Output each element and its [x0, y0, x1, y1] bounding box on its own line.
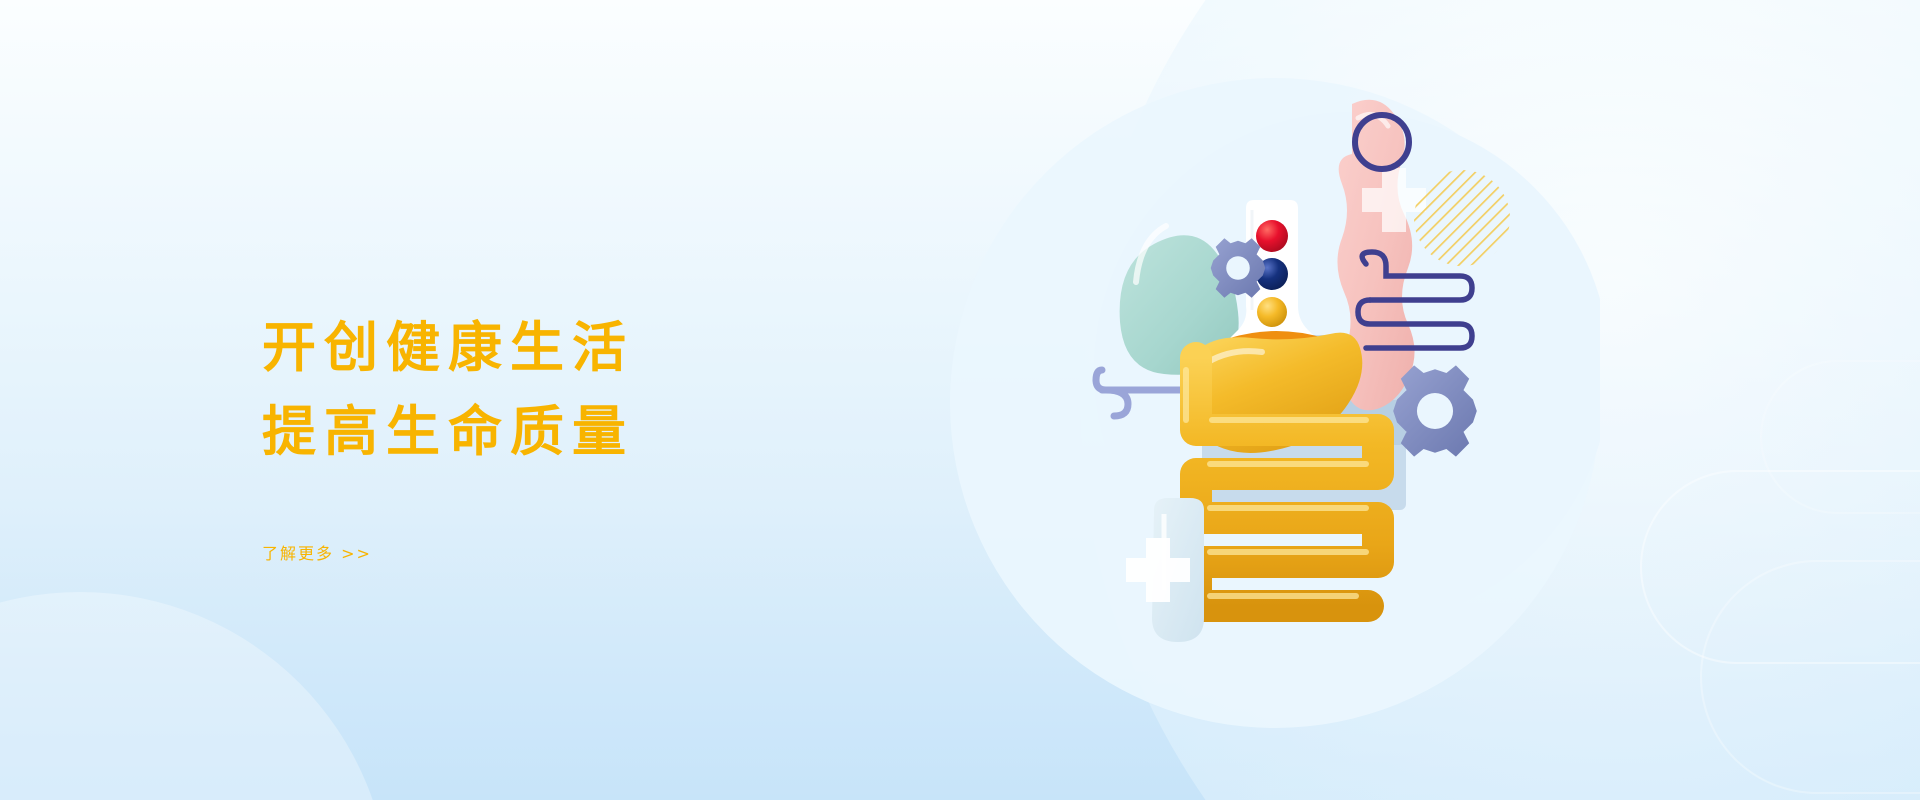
hatched-circle: [1414, 170, 1510, 266]
headline-line-1: 开创健康生活: [262, 306, 962, 390]
background-rounded-rect-middle: [1640, 470, 1920, 664]
hero-text-block: 开创健康生活 提高生命质量 了解更多 >>: [262, 306, 962, 564]
background-rounded-rect-top: [1760, 360, 1920, 514]
digestive-system-illustration: [1080, 70, 1600, 690]
learn-more-link[interactable]: 了解更多 >>: [262, 540, 372, 564]
headline-line-2: 提高生命质量: [262, 390, 962, 474]
gear-large: [1393, 365, 1477, 456]
pill-red: [1256, 220, 1288, 252]
gear-small: [1211, 238, 1266, 298]
pill-yellow: [1257, 297, 1287, 327]
background-circle-bottom-left: [0, 592, 390, 800]
background-rounded-rect-bottom: [1700, 560, 1920, 794]
hero-banner: 开创健康生活 提高生命质量 了解更多 >>: [0, 0, 1920, 800]
